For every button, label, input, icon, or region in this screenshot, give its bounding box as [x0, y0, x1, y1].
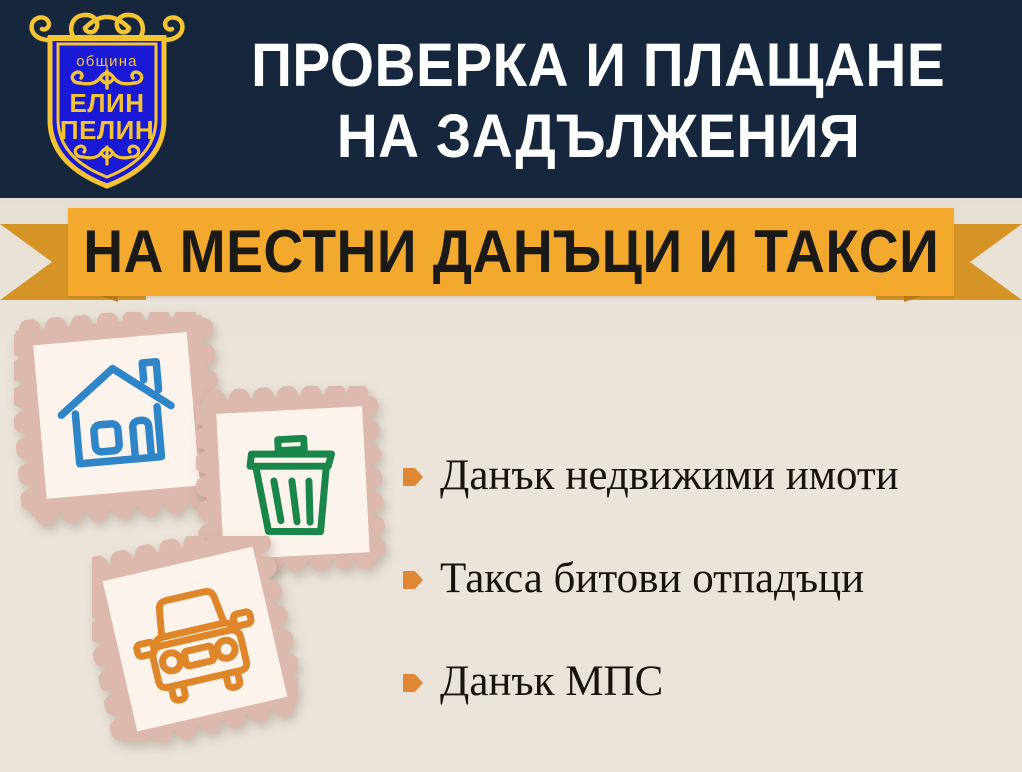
municipality-logo: община ЕЛИН ПЕЛИН [28, 8, 186, 190]
list-item-label: Данък МПС [440, 659, 663, 704]
list-item-label: Такса битови отпадъци [440, 556, 864, 601]
list-item: Такса битови отпадъци [402, 527, 1012, 630]
list-item: Данък МПС [402, 630, 1012, 733]
stamp-card-vehicle [92, 536, 298, 742]
tax-type-list: Данък недвижими имоти Такса битови отпад… [402, 424, 1012, 733]
svg-text:община: община [76, 53, 137, 70]
ribbon-label: НА МЕСТНИ ДАНЪЦИ И ТАКСИ [83, 222, 939, 282]
ribbon-banner: НА МЕСТНИ ДАНЪЦИ И ТАКСИ [68, 208, 954, 296]
page-title-line-1: ПРОВЕРКА И ПЛАЩАНЕ [251, 30, 945, 101]
list-item-label: Данък недвижими имоти [440, 453, 899, 498]
subtitle-ribbon: НА МЕСТНИ ДАНЪЦИ И ТАКСИ [0, 198, 1022, 308]
svg-text:ЕЛИН: ЕЛИН [69, 88, 144, 118]
svg-text:ПЕЛИН: ПЕЛИН [60, 115, 154, 145]
bullet-arrow-icon [402, 465, 424, 489]
list-item: Данък недвижими имоти [402, 424, 1012, 527]
page-title-line-2: НА ЗАДЪЛЖЕНИЯ [336, 101, 860, 172]
bullet-arrow-icon [402, 568, 424, 592]
bullet-arrow-icon [402, 671, 424, 695]
poster-canvas: община ЕЛИН ПЕЛИН [0, 0, 1022, 772]
page-title: ПРОВЕРКА И ПЛАЩАНЕ НА ЗАДЪЛЖЕНИЯ [186, 16, 1010, 186]
